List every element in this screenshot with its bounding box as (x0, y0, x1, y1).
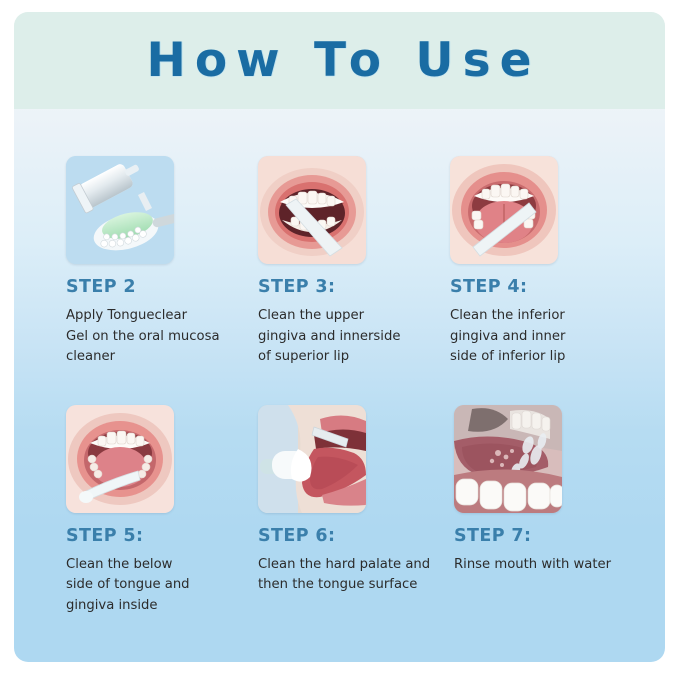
steps-row-1: STEP 2 Apply Tongueclear Gel on the oral… (14, 156, 665, 368)
step-card-5: STEP 5: Clean the below side of tongue a… (66, 405, 258, 617)
step-description: Clean the upper gingiva and innerside of… (258, 306, 440, 367)
step-card-2: STEP 2 Apply Tongueclear Gel on the oral… (66, 156, 258, 368)
instruction-card: How To Use (14, 12, 665, 662)
step-description: Rinse mouth with water (454, 555, 636, 575)
step-card-6: STEP 6: Clean the hard palate and then t… (258, 405, 454, 617)
step-card-7: STEP 7: Rinse mouth with water (454, 405, 646, 617)
step-title: STEP 3: (258, 278, 440, 297)
step-title: STEP 6: (258, 527, 444, 546)
step-description: Clean the inferior gingiva and inner sid… (450, 306, 632, 367)
rinse-mouth-with-water-image (454, 405, 562, 513)
step-title: STEP 4: (450, 278, 632, 297)
step-title: STEP 7: (454, 527, 636, 546)
step-card-4: STEP 4: Clean the inferior gingiva and i… (450, 156, 642, 368)
how-to-use-infographic: How To Use (0, 0, 679, 679)
step-card-3: STEP 3: Clean the upper gingiva and inne… (258, 156, 450, 368)
header-band: How To Use (14, 12, 665, 109)
steps-row-2: STEP 5: Clean the below side of tongue a… (14, 368, 665, 617)
under-tongue-cleaning-image (66, 405, 174, 513)
page-title: How To Use (139, 37, 541, 84)
step-title: STEP 5: (66, 527, 248, 546)
step-description: Apply Tongueclear Gel on the oral mucosa… (66, 306, 248, 367)
steps-grid: STEP 2 Apply Tongueclear Gel on the oral… (14, 109, 665, 662)
step-title: STEP 2 (66, 278, 248, 297)
step-description: Clean the hard palate and then the tongu… (258, 555, 444, 596)
step-description: Clean the below side of tongue and gingi… (66, 555, 248, 616)
hard-palate-tongue-surface-image (258, 405, 366, 513)
open-mouth-inferior-gingiva-image (450, 156, 558, 264)
open-mouth-upper-gingiva-image (258, 156, 366, 264)
gel-bottle-dispensing-onto-cleaner-image (66, 156, 174, 264)
